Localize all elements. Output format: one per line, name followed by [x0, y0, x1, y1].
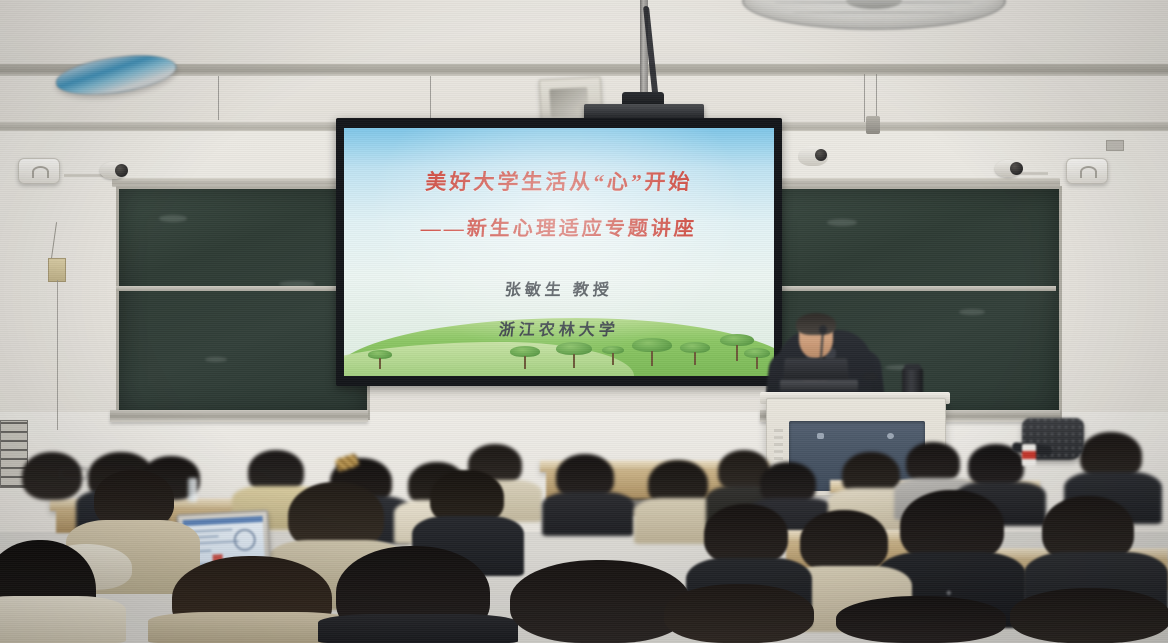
- wall-cord: [57, 280, 58, 430]
- student-head: [510, 560, 690, 643]
- slide-title-line1: 美好大学生活从“心”开始: [344, 166, 774, 196]
- blackboard-right-divider: [766, 286, 1056, 291]
- hanging-cord: [218, 76, 219, 120]
- slide-speaker-line: 张敏生 教授: [344, 276, 774, 300]
- blackboard-left-divider: [116, 286, 364, 291]
- podium-laptop-lid: [783, 358, 849, 382]
- wall-plate: [1106, 140, 1124, 151]
- lecturer-hair: [796, 313, 836, 335]
- wall-speaker: [798, 146, 828, 166]
- wifi-access-point-left: [18, 158, 60, 184]
- student-head: [836, 596, 1006, 643]
- wall-switch-box[interactable]: [48, 258, 66, 282]
- slide-title-line2: ——新生心理适应专题讲座: [344, 212, 774, 241]
- podium-control-knob[interactable]: [817, 433, 824, 439]
- slide-institution-line: 浙江农林大学: [344, 316, 774, 340]
- lecture-hall-photo: 美好大学生活从“心”开始 ——新生心理适应专题讲座 张敏生 教授 浙江农林大学: [0, 0, 1168, 643]
- student-head: [664, 584, 814, 643]
- student-torso: [0, 596, 126, 643]
- desk-microphone: [862, 372, 878, 381]
- student-glasses: [60, 468, 88, 479]
- hanging-cord: [864, 74, 865, 122]
- projected-slide: 美好大学生活从“心”开始 ——新生心理适应专题讲座 张敏生 教授 浙江农林大学: [344, 128, 774, 376]
- camera-arm-left: [64, 174, 106, 177]
- hanging-cord: [876, 74, 877, 122]
- blackboard-left-panel: [116, 186, 370, 420]
- student-torso: [318, 614, 518, 643]
- podium-laptop[interactable]: [780, 380, 858, 391]
- chalk-tray-left: [110, 410, 368, 422]
- student-head: [704, 504, 788, 566]
- red-white-cup: [1022, 444, 1036, 466]
- wifi-access-point-right: [1066, 158, 1108, 184]
- student-head: [1010, 588, 1168, 643]
- student-torso: [542, 492, 634, 536]
- hanging-cord: [430, 76, 431, 120]
- cord-weight: [866, 116, 880, 134]
- podium-indicator: [887, 433, 894, 439]
- clear-water-bottle: [188, 478, 197, 502]
- projection-screen[interactable]: 美好大学生活从“心”开始 ——新生心理适应专题讲座 张敏生 教授 浙江农林大学: [336, 118, 782, 386]
- classroom-camera-right: [995, 160, 1021, 177]
- student-head: [800, 510, 888, 574]
- classroom-camera-left: [100, 162, 126, 179]
